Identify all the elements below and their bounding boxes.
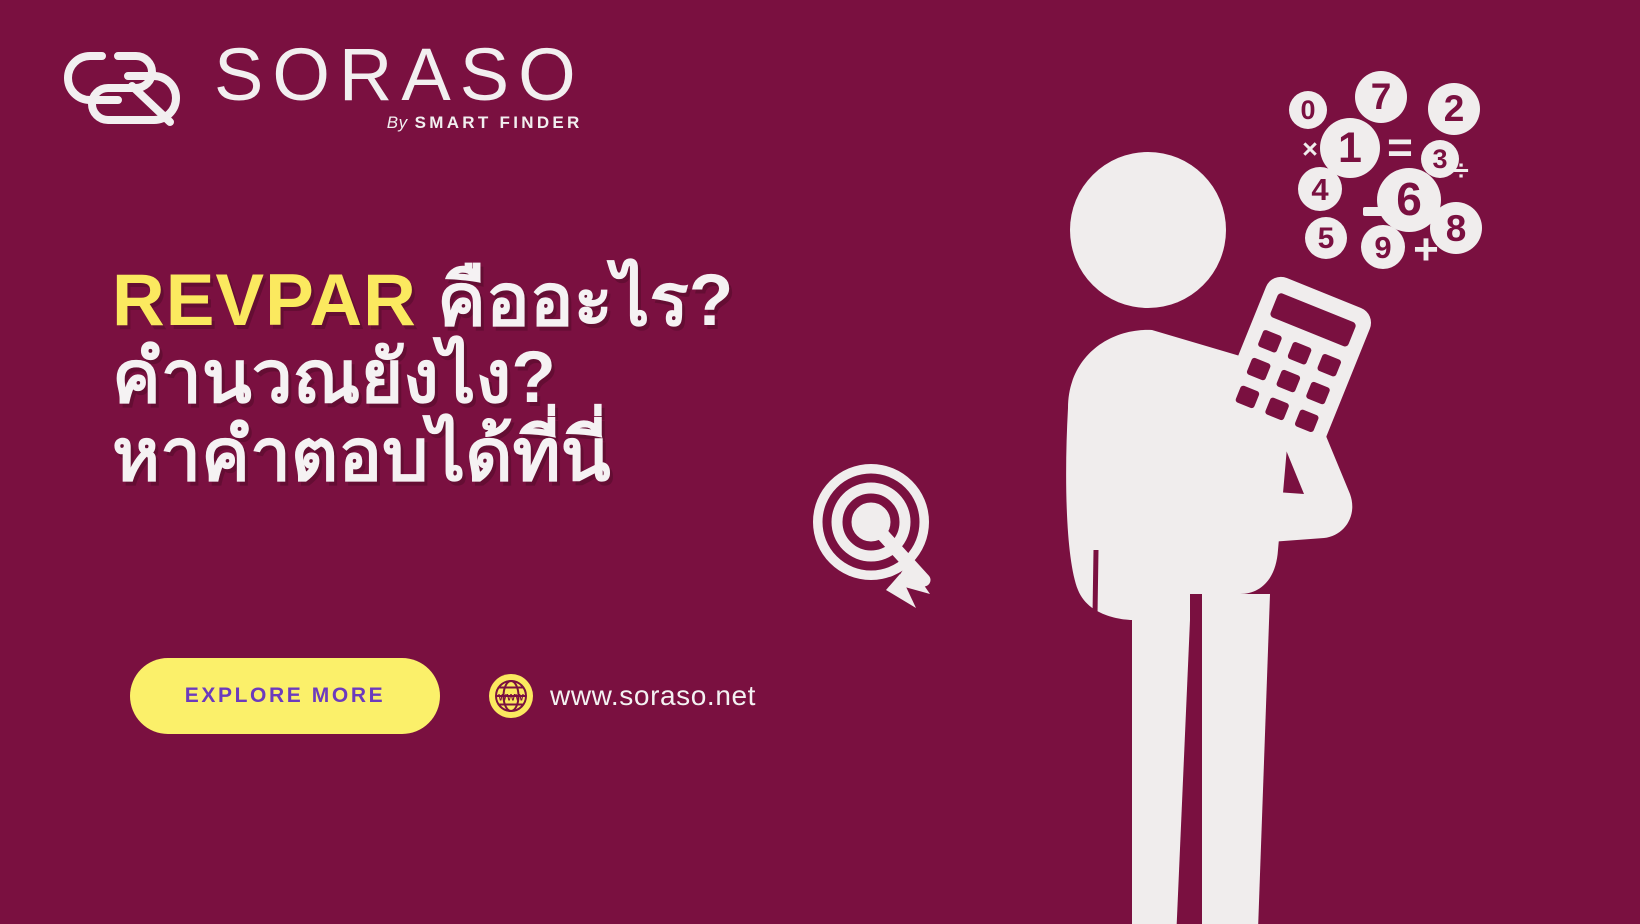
svg-text:4: 4 bbox=[1311, 172, 1329, 207]
brand-name: SORASO bbox=[214, 39, 585, 110]
brand-wordmark: SORASO By SMART FINDER bbox=[214, 39, 585, 132]
headline-line-1-rest: คืออะไร? bbox=[437, 260, 733, 341]
svg-text:1: 1 bbox=[1338, 124, 1362, 172]
svg-text:9: 9 bbox=[1374, 230, 1391, 265]
svg-text:8: 8 bbox=[1446, 208, 1467, 249]
website-link[interactable]: WWW www.soraso.net bbox=[488, 673, 756, 719]
headline-line-3: หาคำตอบได้ที่นี่ bbox=[112, 417, 932, 494]
explore-more-button[interactable]: EXPLORE MORE bbox=[130, 658, 440, 734]
headline-line-1: REVPAR คืออะไร? bbox=[112, 262, 932, 339]
floating-math-numbers: 0 7 2 1 3 4 6 5 bbox=[1278, 66, 1528, 276]
cta-row: EXPLORE MORE WWW www.soraso.net bbox=[130, 658, 756, 734]
globe-www-icon: WWW bbox=[488, 673, 534, 719]
svg-text:5: 5 bbox=[1318, 222, 1335, 255]
promo-banner: SORASO By SMART FINDER REVPAR คืออะไร? ค… bbox=[0, 0, 1640, 924]
svg-text:3: 3 bbox=[1432, 144, 1447, 174]
equals-symbol: = bbox=[1387, 123, 1413, 172]
minus-symbol bbox=[1363, 207, 1391, 216]
brand-parent-name: SMART FINDER bbox=[415, 113, 583, 133]
headline-accent-word: REVPAR bbox=[112, 260, 417, 341]
svg-text:0: 0 bbox=[1300, 95, 1315, 125]
website-url[interactable]: www.soraso.net bbox=[550, 680, 756, 712]
brand-logo[interactable]: SORASO By SMART FINDER bbox=[58, 34, 585, 138]
divide-symbol: ÷ bbox=[1453, 155, 1468, 186]
plus-symbol: + bbox=[1413, 225, 1439, 274]
svg-text:WWW: WWW bbox=[498, 693, 524, 703]
brand-parent: By SMART FINDER bbox=[387, 113, 583, 133]
headline-line-2: คำนวณยังไง? bbox=[112, 339, 932, 416]
svg-text:7: 7 bbox=[1371, 76, 1392, 117]
multiply-symbol: × bbox=[1302, 134, 1318, 164]
target-with-dart-icon bbox=[812, 462, 942, 614]
svg-text:6: 6 bbox=[1396, 173, 1422, 225]
brand-by-label: By bbox=[387, 113, 408, 133]
svg-text:2: 2 bbox=[1444, 88, 1465, 129]
soraso-loop-mark-icon bbox=[58, 34, 198, 138]
headline-block: REVPAR คืออะไร? คำนวณยังไง? หาคำตอบได้ที… bbox=[112, 262, 932, 494]
